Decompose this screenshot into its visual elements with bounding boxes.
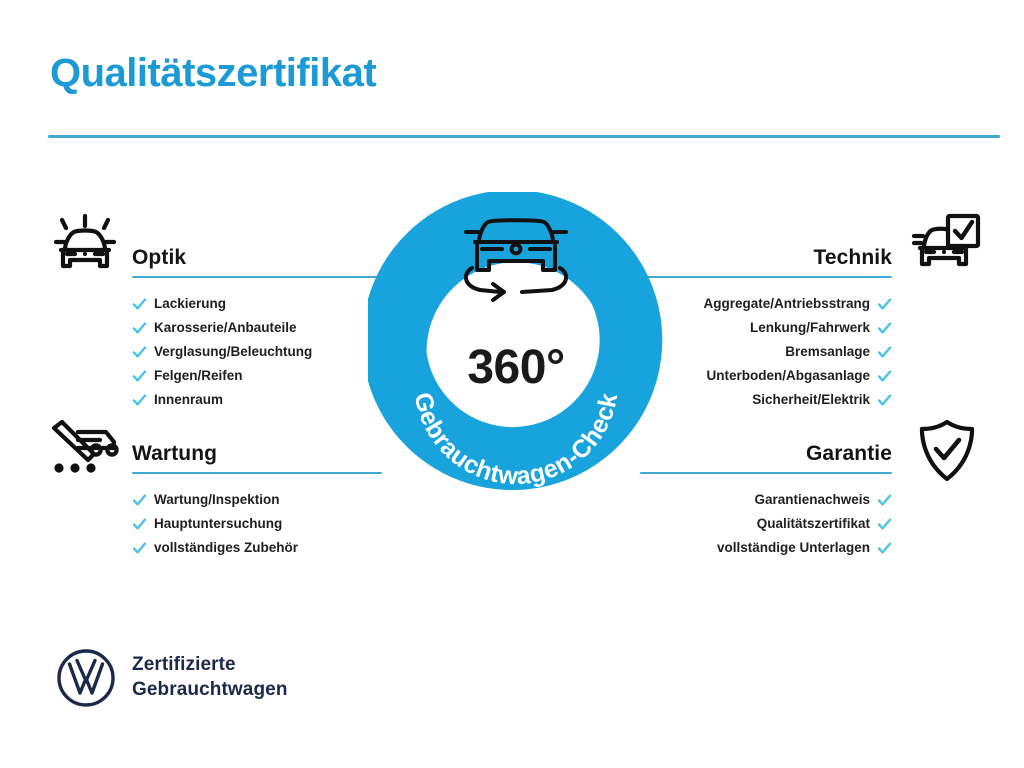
list-item: Wartung/Inspektion (132, 488, 382, 512)
section-optik: Optik Lackierung Karosserie/Anbauteile (132, 236, 382, 412)
section-divider (640, 472, 892, 474)
list-item: Verglasung/Beleuchtung (132, 340, 382, 364)
section-title-garantie: Garantie (806, 442, 892, 466)
section-header: Wartung (132, 432, 382, 474)
list-item: vollständiges Zubehör (132, 536, 382, 560)
checklist-technik: Aggregate/Antriebsstrang Lenkung/Fahrwer… (640, 292, 892, 412)
list-item-label: Garantienachweis (754, 493, 870, 507)
list-item-label: Lackierung (154, 297, 226, 311)
car-checkbox-icon (910, 212, 982, 274)
checklist-optik: Lackierung Karosserie/Anbauteile Verglas… (132, 292, 382, 412)
list-item-label: Lenkung/Fahrwerk (750, 321, 870, 335)
check-icon (132, 541, 147, 556)
check-icon (132, 345, 147, 360)
list-item: Sicherheit/Elektrik (640, 388, 892, 412)
section-garantie: Garantie Garantienachweis Qualitätszerti… (640, 432, 892, 560)
gebrauchtwagen-check-badge: Gebrauchtwagen-Check 360° (368, 192, 664, 492)
certificate-page: Qualitätszertifikat Optik (0, 0, 1024, 768)
section-divider (132, 276, 382, 278)
check-icon (132, 393, 147, 408)
section-divider (132, 472, 382, 474)
section-technik: Technik Aggregate/Antriebsstrang Lenkung… (640, 236, 892, 412)
list-item: Hauptuntersuchung (132, 512, 382, 536)
section-title-wartung: Wartung (132, 442, 217, 466)
vw-wordmark-line2: Gebrauchtwagen (132, 678, 288, 703)
list-item-label: Bremsanlage (785, 345, 870, 359)
list-item: Aggregate/Antriebsstrang (640, 292, 892, 316)
badge-value: 360° (368, 340, 664, 395)
header-divider (48, 135, 1000, 138)
section-title-technik: Technik (814, 246, 893, 270)
check-icon (877, 345, 892, 360)
shield-check-icon (916, 418, 978, 484)
list-item-label: Innenraum (154, 393, 223, 407)
section-header: Garantie (640, 432, 892, 474)
list-item: Garantienachweis (640, 488, 892, 512)
list-item-label: Felgen/Reifen (154, 369, 243, 383)
section-wartung: Wartung Wartung/Inspektion Hauptuntersuc… (132, 432, 382, 560)
check-icon (877, 517, 892, 532)
check-icon (132, 493, 147, 508)
check-icon (132, 297, 147, 312)
list-item-label: Qualitätszertifikat (757, 517, 870, 531)
section-title-optik: Optik (132, 246, 186, 270)
check-icon (877, 369, 892, 384)
list-item-label: Karosserie/Anbauteile (154, 321, 297, 335)
checklist-garantie: Garantienachweis Qualitätszertifikat vol… (640, 488, 892, 560)
vw-wordmark-line1: Zertifizierte (132, 653, 288, 678)
list-item-label: Wartung/Inspektion (154, 493, 280, 507)
section-header: Optik (132, 236, 382, 278)
list-item-label: Sicherheit/Elektrik (752, 393, 870, 407)
checklist-wartung: Wartung/Inspektion Hauptuntersuchung vol… (132, 488, 382, 560)
list-item-label: vollständiges Zubehör (154, 541, 298, 555)
volkswagen-logo (56, 648, 116, 708)
list-item: Felgen/Reifen (132, 364, 382, 388)
check-icon (132, 321, 147, 336)
list-item: Karosserie/Anbauteile (132, 316, 382, 340)
list-item-label: Aggregate/Antriebsstrang (703, 297, 870, 311)
list-item-label: Unterboden/Abgasanlage (706, 369, 870, 383)
list-item-label: Hauptuntersuchung (154, 517, 282, 531)
vw-wordmark: Zertifizierte Gebrauchtwagen (132, 653, 288, 702)
list-item: Unterboden/Abgasanlage (640, 364, 892, 388)
vw-lockup: Zertifizierte Gebrauchtwagen (56, 648, 288, 708)
list-item: Lenkung/Fahrwerk (640, 316, 892, 340)
check-icon (877, 393, 892, 408)
list-item-label: Verglasung/Beleuchtung (154, 345, 312, 359)
list-item-label: vollständige Unterlagen (717, 541, 870, 555)
check-icon (132, 517, 147, 532)
check-icon (877, 321, 892, 336)
check-icon (877, 493, 892, 508)
section-divider (640, 276, 892, 278)
page-title: Qualitätszertifikat (50, 52, 376, 94)
car-front-lights-icon (48, 212, 122, 276)
list-item: Lackierung (132, 292, 382, 316)
car-service-dipstick-icon (48, 418, 122, 476)
check-icon (132, 369, 147, 384)
list-item: Bremsanlage (640, 340, 892, 364)
check-icon (877, 541, 892, 556)
check-icon (877, 297, 892, 312)
section-header: Technik (640, 236, 892, 278)
list-item: vollständige Unterlagen (640, 536, 892, 560)
list-item: Qualitätszertifikat (640, 512, 892, 536)
list-item: Innenraum (132, 388, 382, 412)
